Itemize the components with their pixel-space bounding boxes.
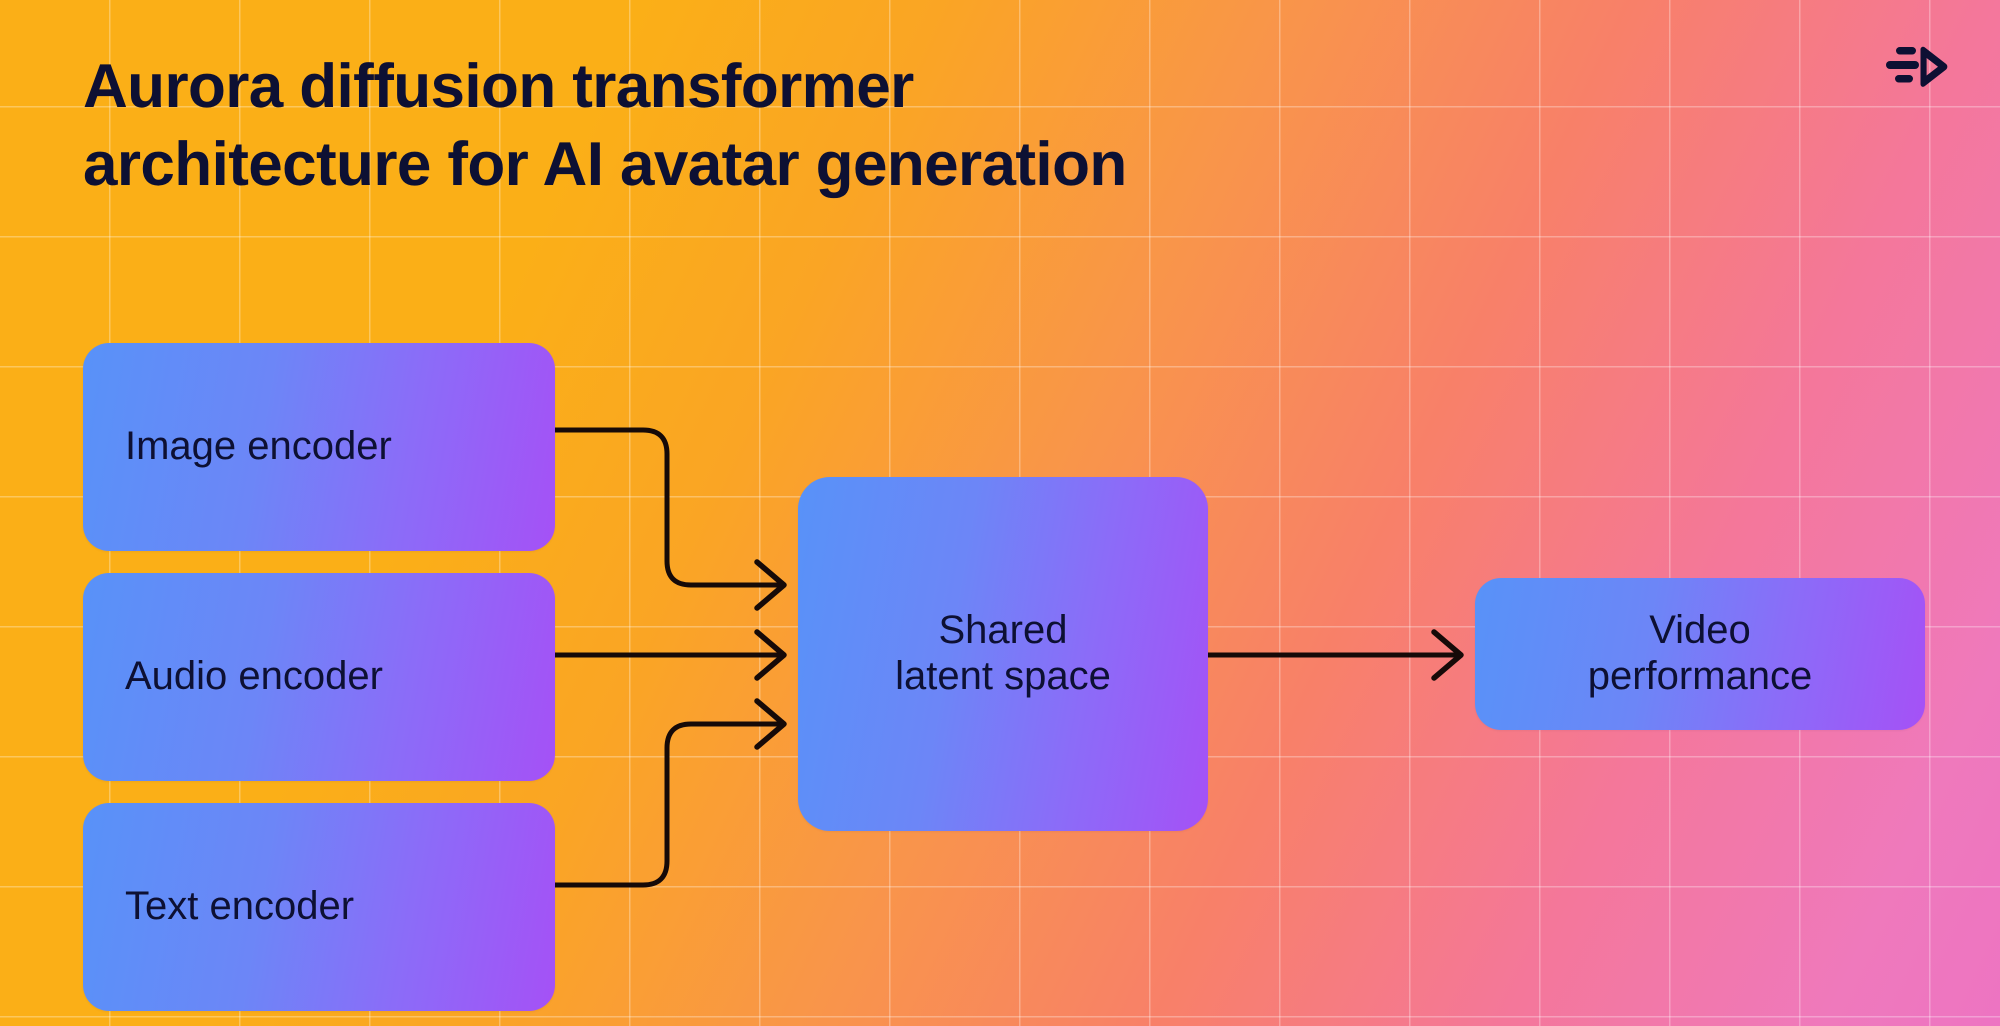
node-label-video-performance: Video performance [1475,608,1925,699]
play-with-speed-lines-logo [1886,46,1948,88]
node-label-text-encoder: Text encoder [83,884,555,930]
node-label-audio-encoder: Audio encoder [83,654,555,700]
arrowhead-shared-to-video [1434,632,1461,678]
node-label-image-encoder: Image encoder [83,424,555,470]
node-label-shared-latent-space: Shared latent space [798,608,1208,699]
diagram-canvas: Aurora diffusion transformer architectur… [0,0,2000,1026]
node-text-encoder[interactable]: Text encoder [83,803,555,1011]
node-image-encoder[interactable]: Image encoder [83,343,555,551]
arrowhead-audio-to-shared [757,632,784,678]
node-audio-encoder[interactable]: Audio encoder [83,573,555,781]
edge-image-to-shared [555,430,782,585]
page-title: Aurora diffusion transformer architectur… [83,48,1127,204]
node-video-performance[interactable]: Video performance [1475,578,1925,730]
arrowhead-image-to-shared [757,562,784,608]
node-shared-latent-space[interactable]: Shared latent space [798,477,1208,831]
arrowhead-text-to-shared [757,701,784,747]
edge-text-to-shared [555,724,782,885]
